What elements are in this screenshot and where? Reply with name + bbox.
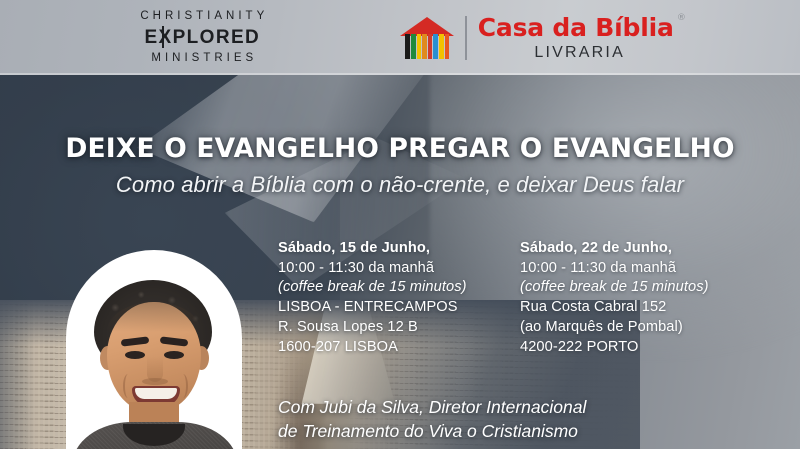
book-spine	[428, 34, 433, 59]
logo-divider	[465, 16, 467, 60]
event-time: 10:00 - 11:30 da manhã	[520, 259, 762, 279]
cross-icon	[162, 26, 164, 48]
book-spine	[411, 34, 416, 59]
portrait-nose-shadow	[142, 378, 168, 385]
event-venue: LISBOA - ENTRECAMPOS	[278, 298, 520, 318]
event-venue: Rua Costa Cabral 152	[520, 298, 762, 318]
book-spine	[422, 34, 427, 59]
christianity-explored-logo: CHRISTIANITY EXPLORED MINISTRIES	[136, 11, 268, 64]
portrait-smile-line-right	[178, 374, 188, 398]
book-spine	[417, 34, 422, 59]
event-poster: CHRISTIANITY EXPLORED MINISTRIES	[0, 0, 800, 449]
casa-da-biblia-title: Casa da Bíblia ®	[478, 15, 674, 40]
portrait-eye-right	[164, 351, 184, 359]
ce-logo-line-explored: EXPLORED	[144, 28, 260, 47]
page-subtitle: Como abrir a Bíblia com o não-crente, e …	[0, 172, 800, 198]
event-postal: 1600-207 LISBOA	[278, 338, 520, 358]
casa-da-biblia-wordmark: Casa da Bíblia ® LIVRARIA	[478, 15, 674, 61]
event-street: R. Sousa Lopes 12 B	[278, 318, 520, 338]
book-spine	[445, 34, 450, 59]
registered-trademark-icon: ®	[677, 14, 686, 23]
event-column-lisboa: Sábado, 15 de Junho, 10:00 - 11:30 da ma…	[278, 239, 520, 357]
event-date: Sábado, 15 de Junho,	[278, 239, 520, 259]
speaker-portrait	[66, 250, 242, 449]
speaker-credit-line-1: Com Jubi da Silva, Diretor Internacional	[278, 396, 586, 420]
event-note: (coffee break de 15 minutos)	[278, 278, 520, 298]
portrait-eye-left	[125, 351, 145, 359]
event-note: (coffee break de 15 minutos)	[520, 278, 762, 298]
ce-logo-line-ministries: MINISTRIES	[136, 53, 268, 65]
speaker-credit: Com Jubi da Silva, Diretor Internacional…	[278, 396, 586, 443]
event-time: 10:00 - 11:30 da manhã	[278, 259, 520, 279]
book-spine	[405, 34, 410, 59]
portrait-smile-line-left	[123, 374, 133, 398]
ce-logo-line-christianity: CHRISTIANITY	[136, 11, 268, 23]
house-with-books-icon	[400, 17, 454, 59]
casa-da-biblia-subtitle: LIVRARIA	[478, 45, 674, 61]
event-postal: 4200-222 PORTO	[520, 338, 762, 358]
event-date: Sábado, 22 de Junho,	[520, 239, 762, 259]
event-column-porto: Sábado, 22 de Junho, 10:00 - 11:30 da ma…	[520, 239, 762, 357]
event-street: (ao Marquês de Pombal)	[520, 318, 762, 338]
speaker-credit-line-2: de Treinamento do Viva o Cristianismo	[278, 420, 586, 444]
casa-da-biblia-title-text: Casa da Bíblia	[478, 13, 674, 42]
book-spine	[439, 34, 444, 59]
portrait-teeth	[135, 388, 177, 399]
book-spines-group	[405, 34, 449, 59]
book-spine	[433, 34, 438, 59]
casa-da-biblia-logo: Casa da Bíblia ® LIVRARIA	[400, 15, 673, 61]
page-title: DEIXE O EVANGELHO PREGAR O EVANGELHO	[0, 133, 800, 164]
logo-header-band: CHRISTIANITY EXPLORED MINISTRIES	[0, 0, 800, 75]
event-details-group: Sábado, 15 de Junho, 10:00 - 11:30 da ma…	[278, 239, 778, 357]
